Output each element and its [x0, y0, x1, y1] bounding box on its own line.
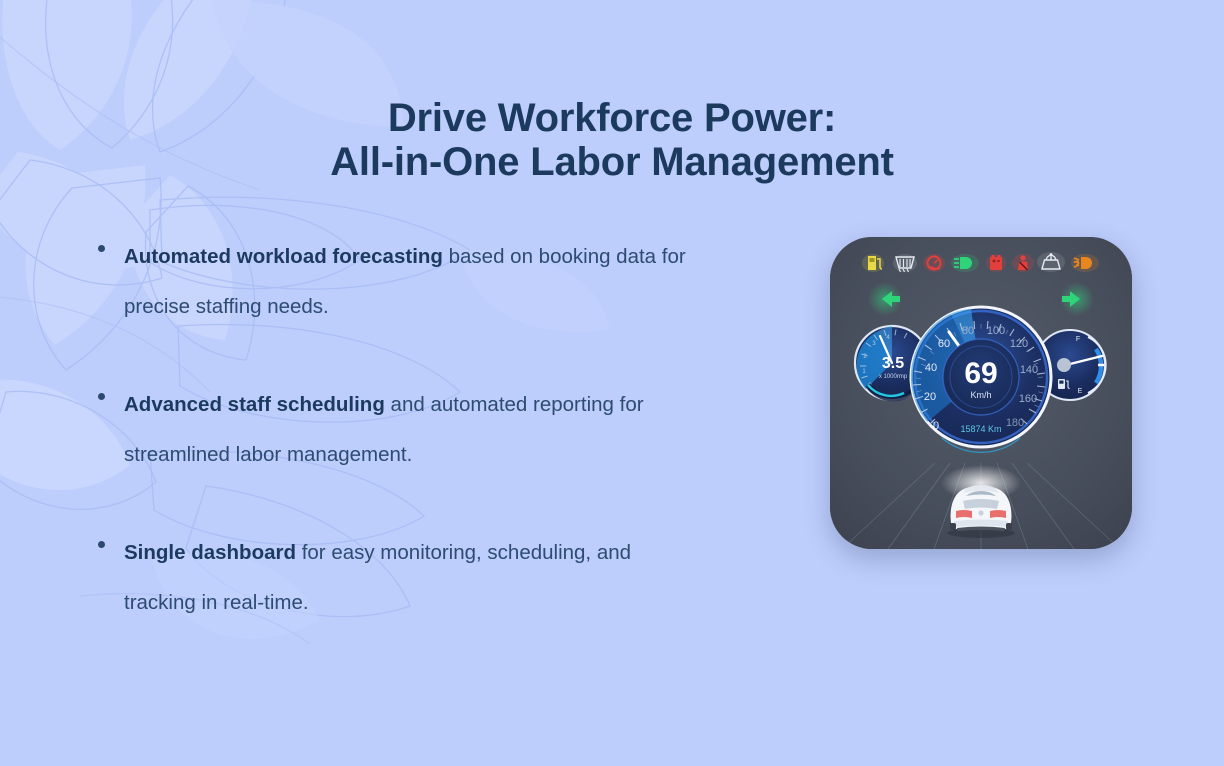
speed-tick-0: 0: [933, 420, 939, 432]
list-item: Automated workload forecasting based on …: [88, 232, 708, 332]
engine-temperature-icon: [923, 254, 945, 272]
slide-canvas: Drive Workforce Power: All-in-One Labor …: [0, 0, 1224, 766]
battery-warning-icon: [986, 254, 1006, 272]
list-item: Advanced staff scheduling and automated …: [88, 380, 708, 480]
bullet-dot-icon: [98, 393, 105, 400]
speed-tick-140: 140: [1020, 364, 1038, 376]
list-item: Single dashboard for easy monitoring, sc…: [88, 528, 708, 628]
speed-tick-40: 40: [925, 362, 937, 374]
speedometer-unit: Km/h: [970, 390, 991, 400]
tachometer-unit: x 1000rmp: [879, 374, 908, 380]
speed-tick-20: 20: [924, 391, 936, 403]
car-dashboard-image: 0 1 2 3 4 3.5 x 1000rmp: [830, 237, 1132, 549]
speed-tick-80: 80: [962, 325, 974, 337]
tachometer-value: 3.5: [882, 355, 904, 372]
low-beam-headlight-icon: [951, 254, 979, 272]
fuel-full-label: F: [1076, 336, 1080, 343]
speed-tick-100: 100: [987, 325, 1005, 337]
title-line-2: All-in-One Labor Management: [0, 140, 1224, 184]
speed-tick-180: 180: [1006, 417, 1024, 429]
rear-defrost-icon: [893, 254, 917, 272]
fuel-warning-icon: [862, 254, 884, 272]
fog-light-icon: [1071, 254, 1099, 272]
fuel-pump-icon: [1058, 379, 1070, 389]
title-line-1: Drive Workforce Power:: [0, 96, 1224, 140]
odometer-value: 15874 Km: [960, 424, 1001, 434]
speed-tick-120: 120: [1010, 338, 1028, 350]
bullet-lead: Single dashboard: [124, 541, 296, 564]
page-title: Drive Workforce Power: All-in-One Labor …: [0, 96, 1224, 184]
bullet-dot-icon: [98, 245, 105, 252]
bullet-lead: Automated workload forecasting: [124, 245, 443, 268]
bullet-text: Single dashboard for easy monitoring, sc…: [124, 528, 708, 628]
speed-tick-160: 160: [1019, 393, 1037, 405]
bullet-text: Advanced staff scheduling and automated …: [124, 380, 708, 480]
bullet-lead: Advanced staff scheduling: [124, 393, 385, 416]
fuel-needle-hub: [1057, 358, 1071, 372]
seatbelt-warning-icon: [1012, 254, 1034, 272]
speedometer-value: 69: [964, 357, 997, 390]
speed-tick-60: 60: [938, 338, 950, 350]
windshield-wiper-icon: [1037, 252, 1065, 272]
bullet-dot-icon: [98, 541, 105, 548]
bullet-list: Automated workload forecasting based on …: [88, 232, 708, 628]
fuel-empty-label: E: [1078, 388, 1083, 395]
bullet-text: Automated workload forecasting based on …: [124, 232, 708, 332]
